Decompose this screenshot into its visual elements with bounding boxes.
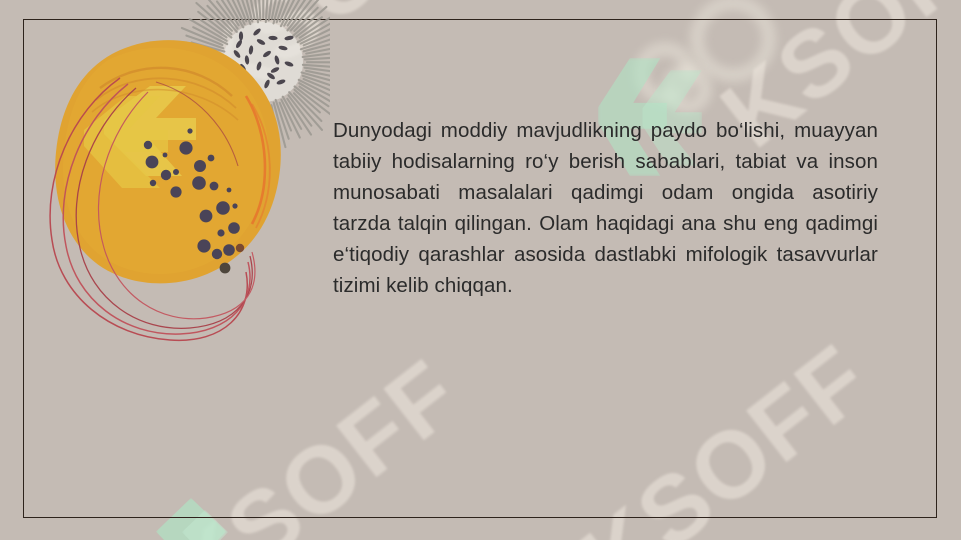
slide-canvas: KSOFF KSOFF KSOFF KSOFF (0, 0, 961, 540)
slide-body-text: Dunyodagi moddiy mavjudlikning paydo bo‘… (333, 115, 878, 301)
